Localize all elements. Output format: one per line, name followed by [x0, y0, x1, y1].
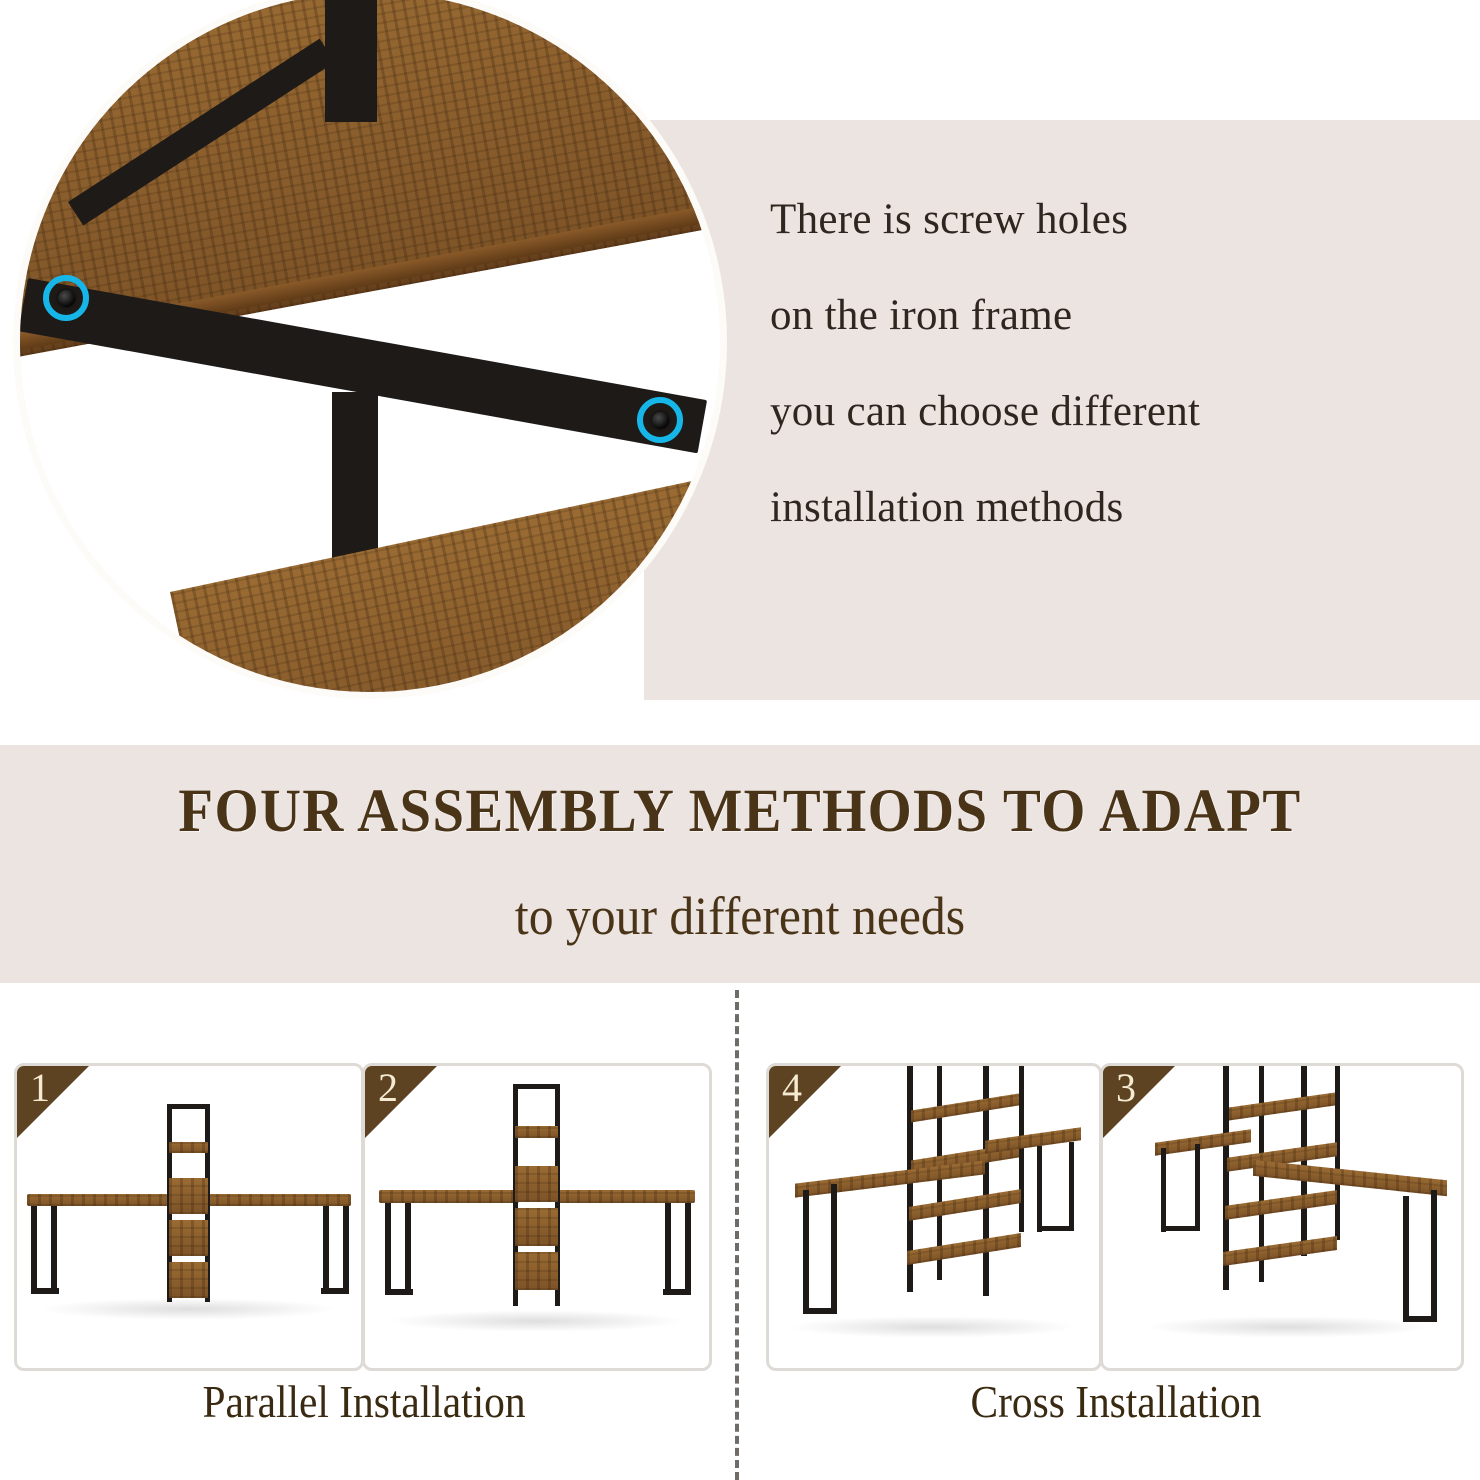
feature-paragraph: There is screw holes on the iron frame y…: [770, 172, 1390, 556]
desk-illustration-cross-right: [1103, 1066, 1461, 1368]
feature-line-2: on the iron frame: [770, 268, 1390, 364]
installation-panel-3[interactable]: 3: [1100, 1063, 1464, 1371]
installation-panel-1[interactable]: 1: [14, 1063, 364, 1371]
screw-hole-highlight-icon: [637, 397, 683, 443]
desk-illustration-cross-left: [769, 1066, 1099, 1368]
feature-line-4: installation methods: [770, 460, 1390, 556]
assembly-methods-banner: FOUR ASSEMBLY METHODS TO ADAPT to your d…: [0, 745, 1480, 983]
banner-headline: FOUR ASSEMBLY METHODS TO ADAPT: [52, 777, 1428, 847]
banner-subheadline: to your different needs: [59, 885, 1421, 947]
installation-panel-4[interactable]: 4: [766, 1063, 1102, 1371]
group-label-cross: Cross Installation: [788, 1375, 1443, 1428]
installation-options-section: 1: [0, 983, 1480, 1480]
screw-hole-highlight-icon: [43, 275, 89, 321]
group-divider: [735, 990, 739, 1480]
desk-illustration-parallel-tall: [365, 1066, 709, 1368]
desk-illustration-parallel-short: [17, 1066, 361, 1368]
installation-group-cross: 4: [752, 983, 1480, 1480]
installation-group-parallel: 1: [0, 983, 728, 1480]
shelf-board-bottom: [170, 442, 720, 692]
installation-panel-2[interactable]: 2: [362, 1063, 712, 1371]
iron-frame-upper-post: [325, 0, 377, 122]
top-feature-section: There is screw holes on the iron frame y…: [0, 0, 1480, 744]
product-closeup-photo: [20, 0, 720, 692]
group-label-parallel: Parallel Installation: [36, 1375, 691, 1428]
feature-line-3: you can choose different: [770, 364, 1390, 460]
feature-line-1: There is screw holes: [770, 172, 1390, 268]
